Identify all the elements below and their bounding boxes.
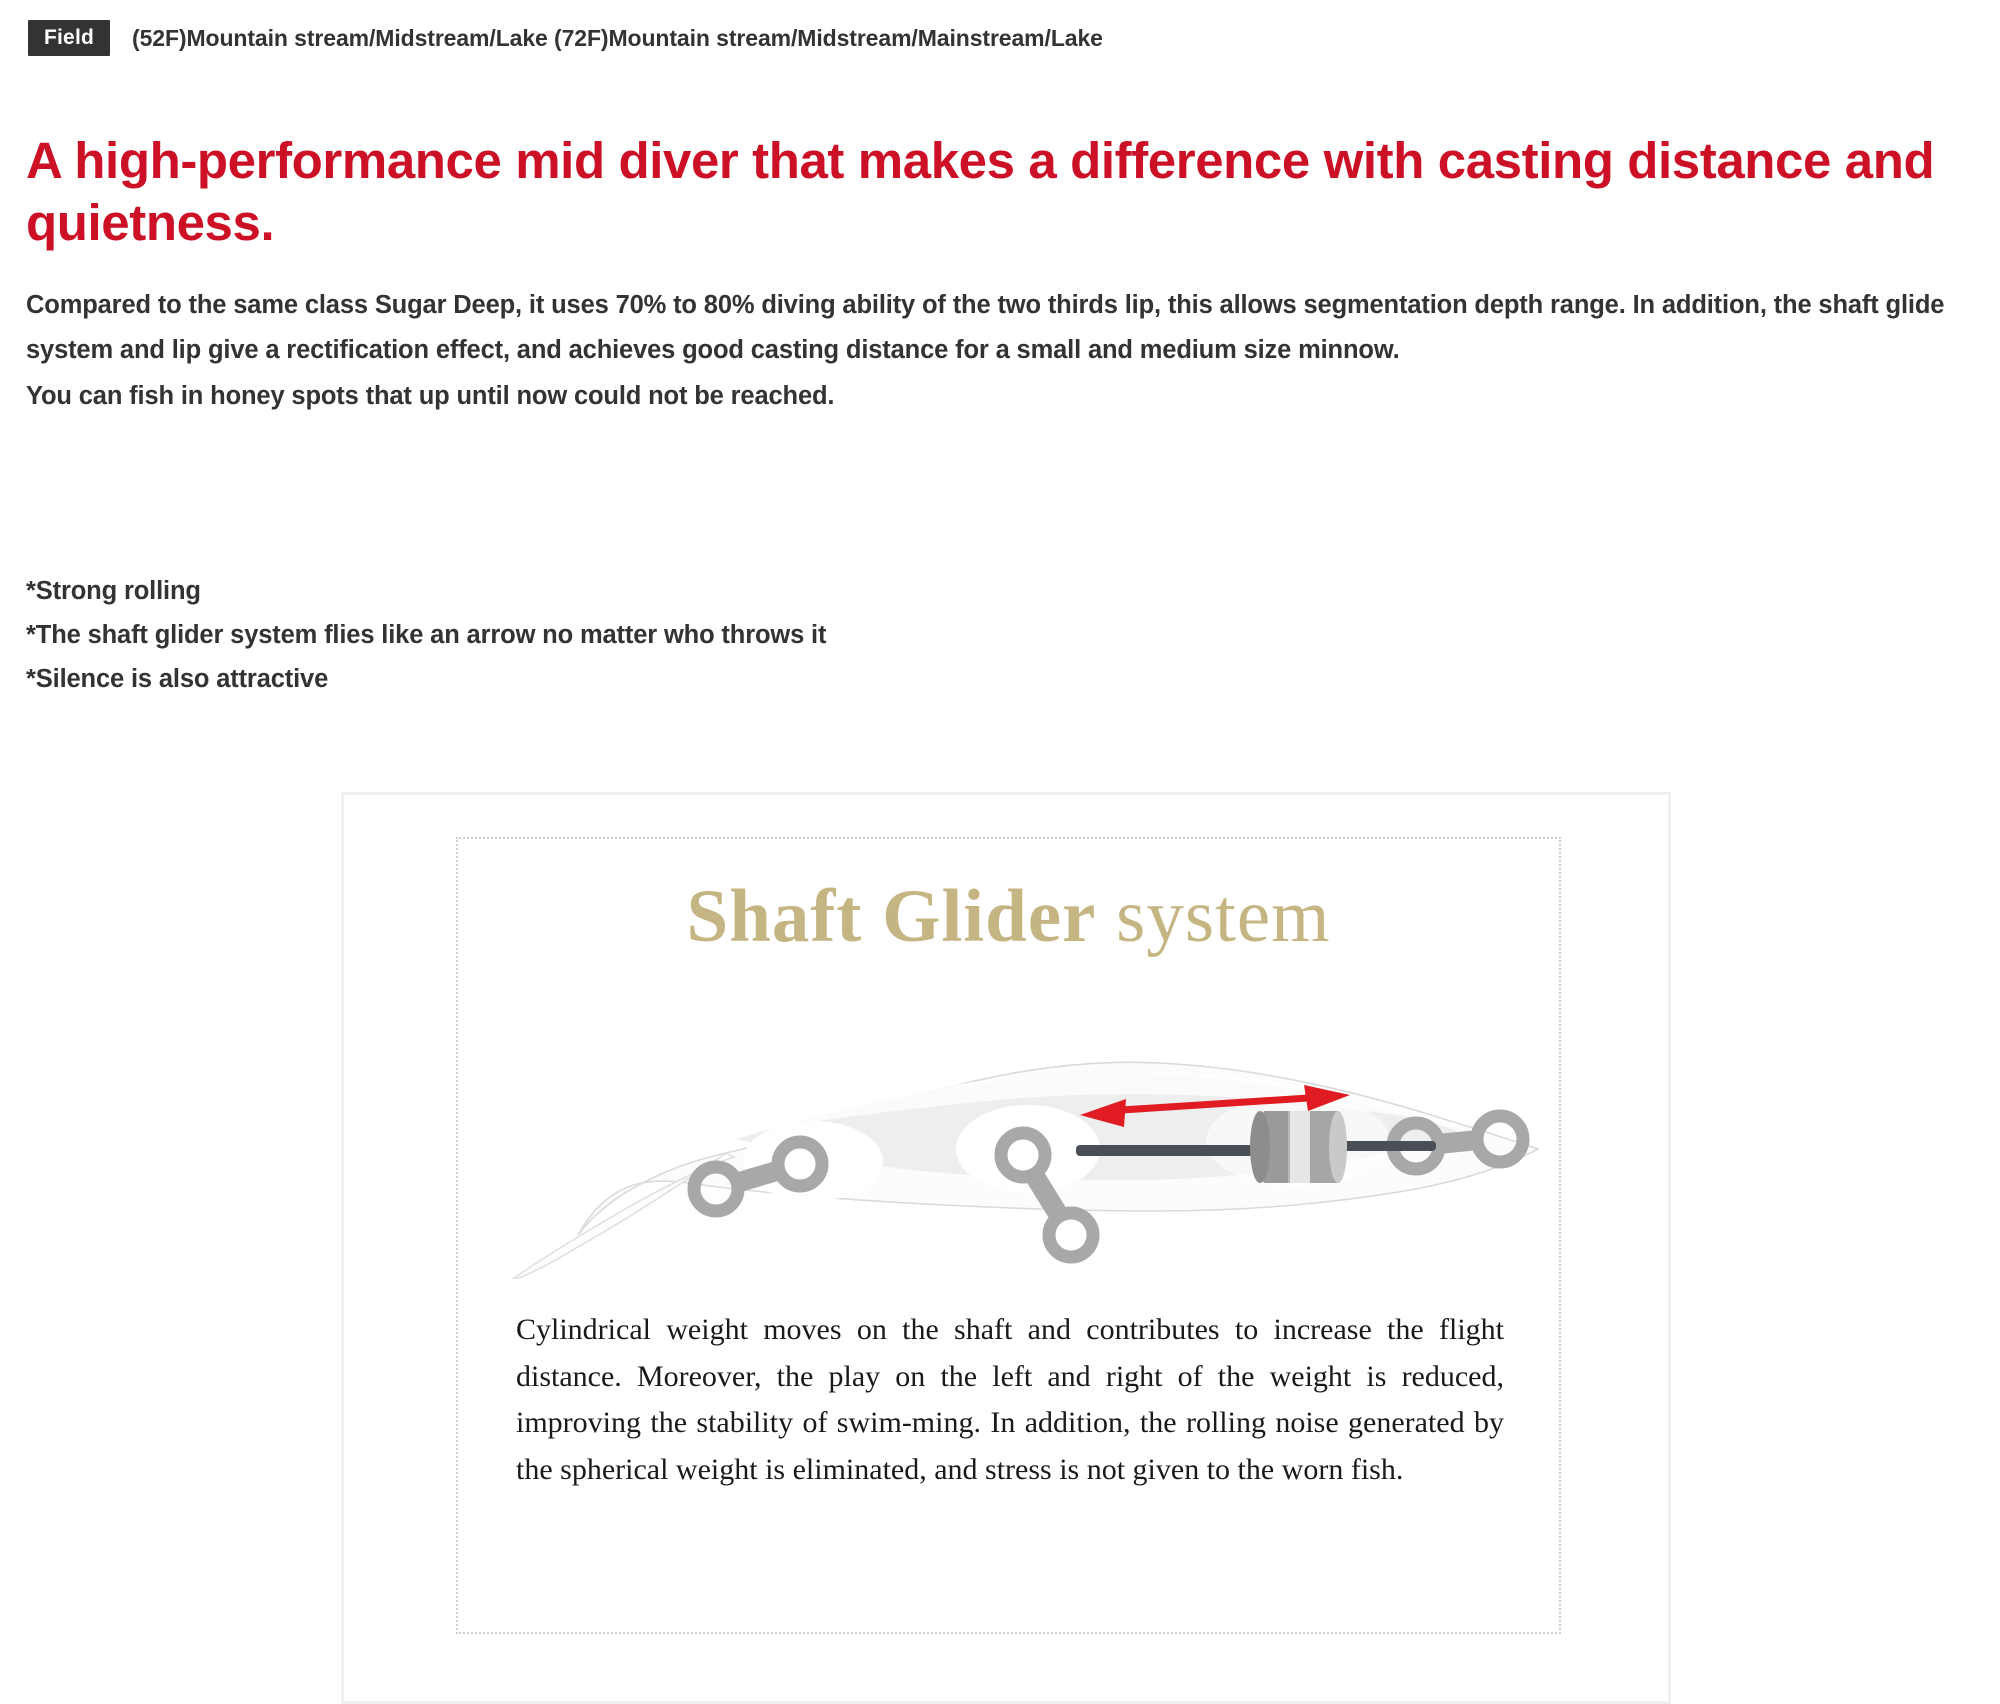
page-root: Field (52F)Mountain stream/Midstream/Lak… (0, 0, 2000, 1704)
figure-panel-outer: Shaft Glider system (341, 792, 1671, 1704)
feature-list: *Strong rolling *The shaft glider system… (26, 570, 826, 702)
field-meta-row: Field (52F)Mountain stream/Midstream/Lak… (28, 20, 1103, 56)
body-copy: Compared to the same class Sugar Deep, i… (26, 283, 1978, 419)
figure-title-bold: Shaft Glider (686, 875, 1096, 958)
figure-title-light: system (1116, 875, 1330, 958)
cylindrical-weight (1250, 1111, 1347, 1183)
feature-item: *Silence is also attractive (26, 658, 826, 702)
glide-shaft-right (1336, 1141, 1436, 1151)
figure-caption-text: Cylindrical weight moves on the shaft an… (516, 1307, 1504, 1493)
lure-diagram-svg (458, 989, 1559, 1279)
body-paragraph-2: You can fish in honey spots that up unti… (26, 374, 1978, 419)
field-badge: Field (28, 20, 110, 56)
page-headline: A high-performance mid diver that makes … (26, 130, 1936, 254)
figure-panel-inner: Shaft Glider system (456, 837, 1561, 1634)
feature-item: *The shaft glider system flies like an a… (26, 614, 826, 658)
field-value-text: (52F)Mountain stream/Midstream/Lake (72F… (132, 25, 1103, 52)
feature-item: *Strong rolling (26, 570, 826, 614)
figure-title: Shaft Glider system (458, 879, 1559, 954)
figure-caption: Cylindrical weight moves on the shaft an… (516, 1307, 1504, 1493)
lure-diagram (458, 989, 1559, 1279)
body-paragraph-1: Compared to the same class Sugar Deep, i… (26, 283, 1978, 374)
glide-shaft-left (1076, 1145, 1266, 1156)
